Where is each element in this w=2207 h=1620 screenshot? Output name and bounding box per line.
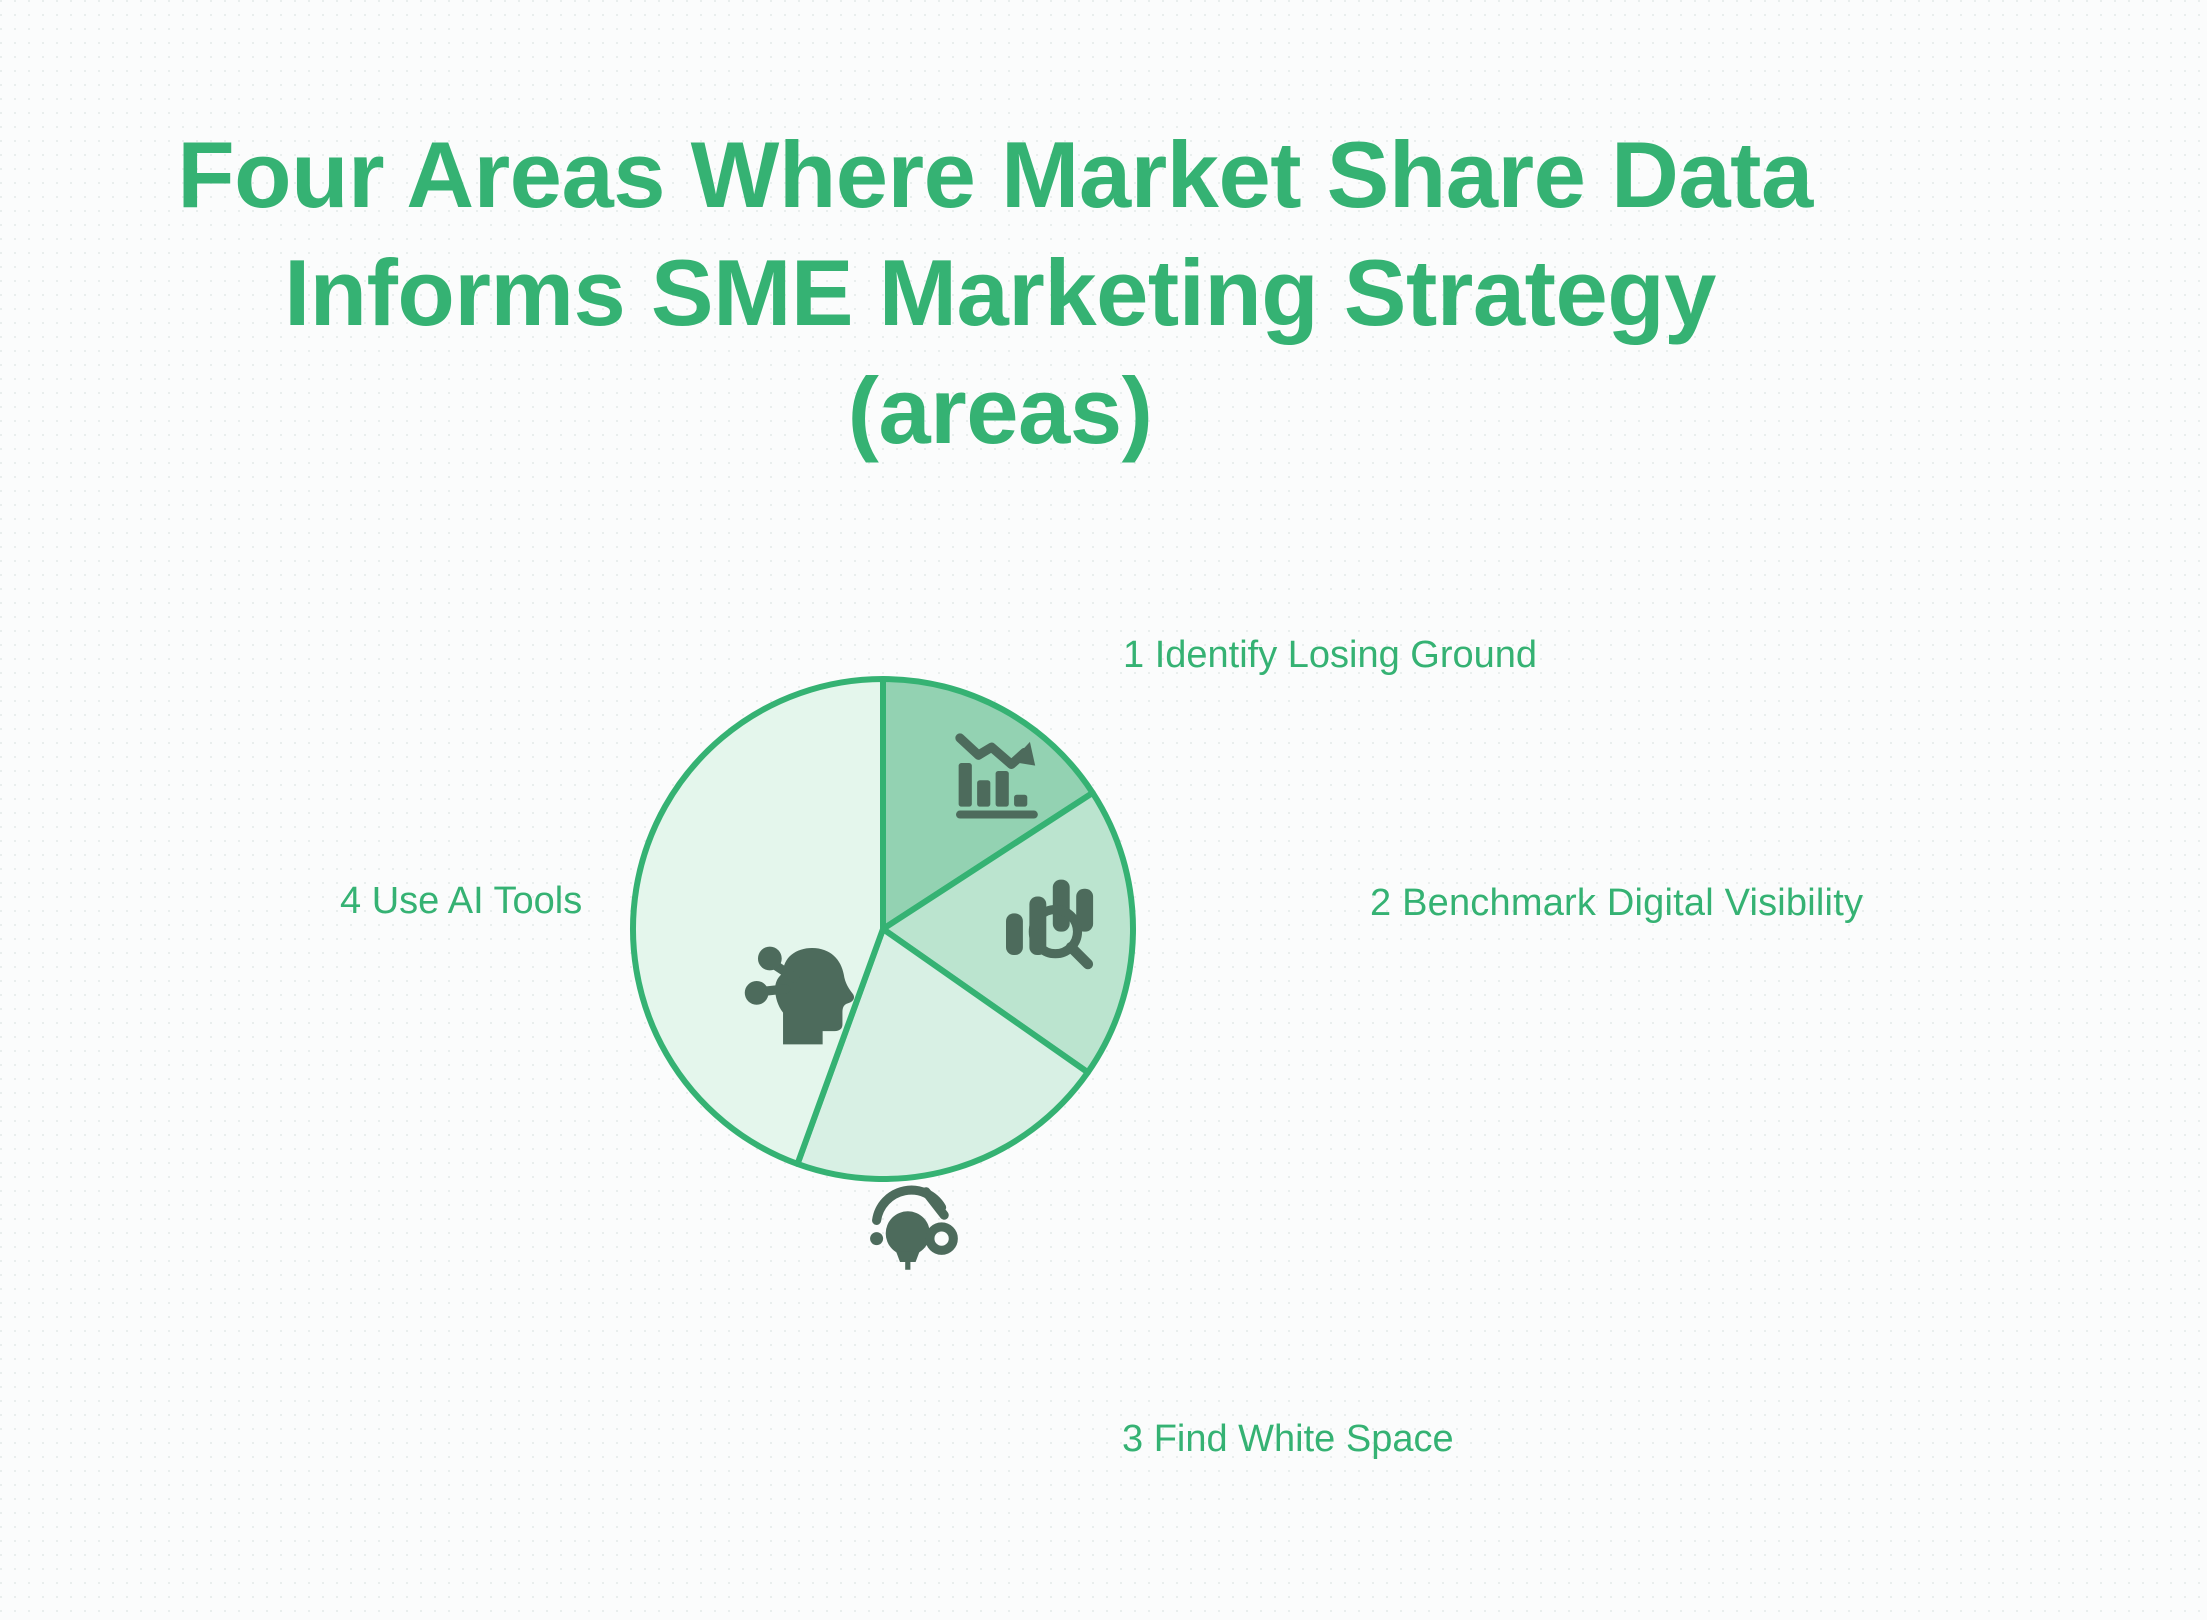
title-line-3: (areas) bbox=[0, 364, 2000, 458]
slide-canvas: Four Areas Where Market Share Data Infor… bbox=[0, 0, 2207, 1620]
title-line-2: Informs SME Marketing Strategy bbox=[0, 246, 2000, 340]
lightbulb-idea-icon bbox=[870, 1190, 953, 1270]
pie-slices bbox=[633, 679, 1133, 1179]
title-line-1: Four Areas Where Market Share Data bbox=[0, 128, 2000, 222]
page-title: Four Areas Where Market Share Data Infor… bbox=[0, 128, 2000, 458]
pie-label-use-ai-tools: 4 Use AI Tools bbox=[340, 881, 582, 923]
pie-label-identify-losing-ground: 1 Identify Losing Ground bbox=[1123, 635, 1537, 677]
pie-chart bbox=[626, 672, 1140, 1186]
pie-label-benchmark-digital-visibility: 2 Benchmark Digital Visibility bbox=[1370, 883, 1863, 925]
pie-label-find-white-space: 3 Find White Space bbox=[1122, 1419, 1454, 1461]
